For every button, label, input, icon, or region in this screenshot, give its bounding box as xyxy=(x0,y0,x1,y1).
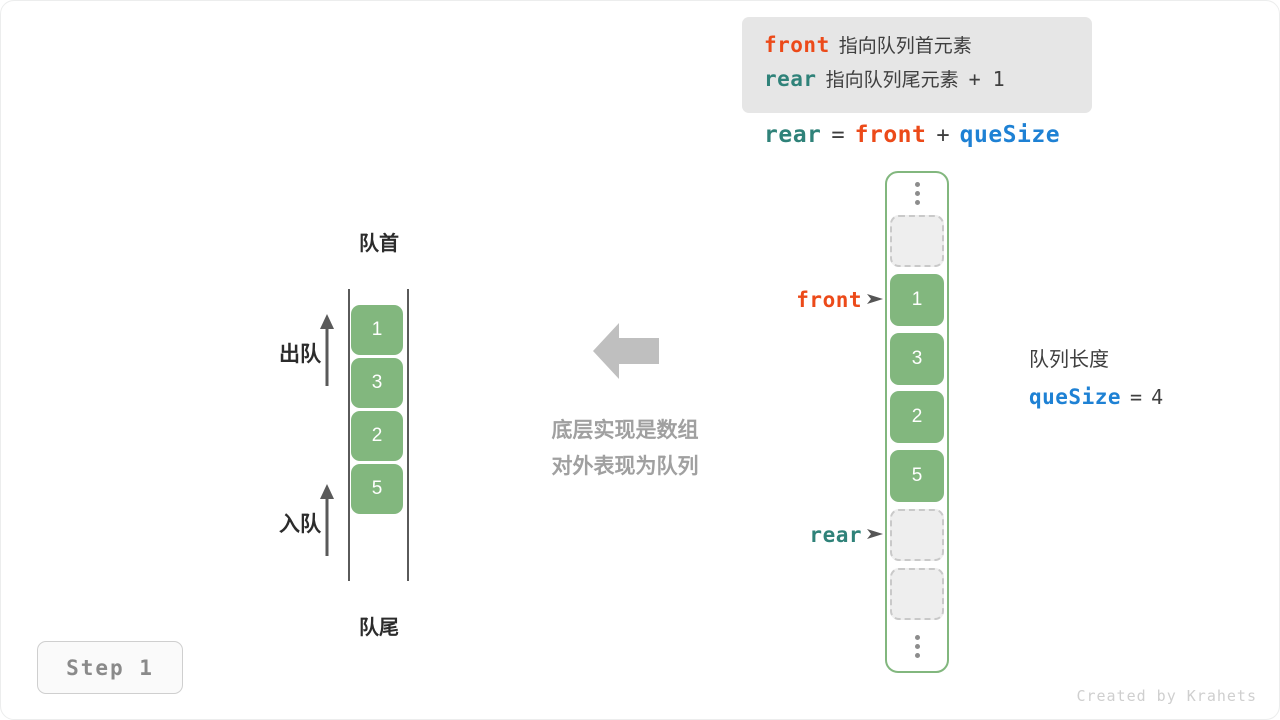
queue-rail-right xyxy=(407,289,409,581)
array-cell-value: 1 xyxy=(912,289,923,311)
queue-tail-label: 队尾 xyxy=(349,611,409,640)
pointer-legend-box: front指向队列首元素 rear指向队列尾元素+ 1 xyxy=(742,17,1092,113)
diagram-canvas: front指向队列首元素 rear指向队列尾元素+ 1 rear=front+q… xyxy=(0,0,1280,720)
array-cell-value: 3 xyxy=(912,348,923,370)
array-top-ellipsis-icon xyxy=(907,182,927,205)
formula-lhs: rear xyxy=(764,122,821,148)
queue-cell-1: 3 xyxy=(351,358,403,408)
front-pointer-label: front xyxy=(752,288,862,312)
queue-cell-0: 1 xyxy=(351,305,403,355)
queue-cell-value: 1 xyxy=(372,319,383,341)
queue-cell-value: 2 xyxy=(372,425,383,447)
enqueue-label: 入队 xyxy=(251,508,321,538)
queue-cell-3: 5 xyxy=(351,464,403,514)
dequeue-label: 出队 xyxy=(251,338,321,368)
center-caption: 底层实现是数组 对外表现为队列 xyxy=(501,413,749,485)
formula-plus: + xyxy=(926,123,959,148)
queue-size-annotation: 队列长度 queSize=4 xyxy=(1029,342,1163,418)
array-cell-5 xyxy=(890,509,944,561)
array-cell-value: 2 xyxy=(912,406,923,428)
queue-cell-2: 2 xyxy=(351,411,403,461)
queue-cell-value: 5 xyxy=(372,478,383,500)
array-cell-0 xyxy=(890,215,944,267)
rear-pointer-label: rear xyxy=(752,523,862,547)
pointer-formula: rear=front+queSize xyxy=(764,119,1060,154)
quesize-variable: queSize xyxy=(1029,385,1121,409)
legend-desc-front: 指向队列首元素 xyxy=(830,36,972,57)
dequeue-arrow-icon xyxy=(316,314,338,386)
array-cell-1: 1 xyxy=(890,274,944,326)
queue-rail-left xyxy=(348,289,350,581)
queue-size-expression: queSize=4 xyxy=(1029,379,1163,418)
rear-pointer-arrow-icon xyxy=(867,528,883,540)
array-cell-6 xyxy=(890,568,944,620)
center-caption-line1: 底层实现是数组 xyxy=(501,413,749,449)
legend-keyword-rear: rear xyxy=(764,67,817,91)
array-cell-value: 5 xyxy=(912,465,923,487)
legend-desc-rear: 指向队列尾元素 xyxy=(817,70,959,91)
formula-operand-quesize: queSize xyxy=(960,122,1060,148)
formula-operand-front: front xyxy=(855,122,927,148)
array-cell-3: 2 xyxy=(890,391,944,443)
quesize-value: 4 xyxy=(1151,385,1163,409)
queue-cell-value: 3 xyxy=(372,372,383,394)
queue-size-title: 队列长度 xyxy=(1029,342,1163,379)
legend-keyword-front: front xyxy=(764,33,830,57)
array-bottom-ellipsis-icon xyxy=(907,635,927,658)
array-cell-4: 5 xyxy=(890,450,944,502)
legend-line-front: front指向队列首元素 xyxy=(764,29,1092,63)
queue-head-label: 队首 xyxy=(349,227,409,256)
center-caption-line2: 对外表现为队列 xyxy=(501,449,749,485)
credit-text: Created by Krahets xyxy=(1076,687,1257,705)
legend-suffix-rear: + 1 xyxy=(959,67,1005,91)
legend-line-rear: rear指向队列尾元素+ 1 xyxy=(764,63,1092,97)
quesize-equals: = xyxy=(1121,385,1151,409)
front-pointer-arrow-icon xyxy=(867,293,883,305)
array-cell-2: 3 xyxy=(890,333,944,385)
enqueue-arrow-icon xyxy=(316,484,338,556)
formula-equals: = xyxy=(821,123,854,148)
left-arrow-icon xyxy=(593,321,659,381)
step-badge[interactable]: Step 1 xyxy=(37,641,183,694)
